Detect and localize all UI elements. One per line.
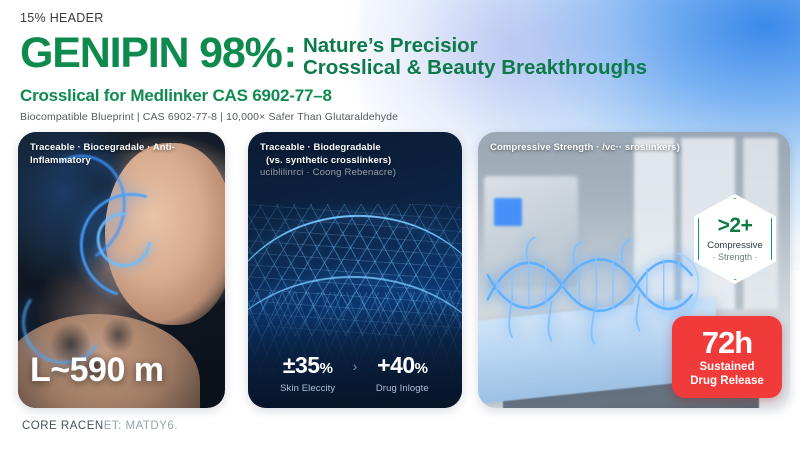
card-lab[interactable]: Compressive Strength · /vc·· sroslinkers…	[478, 132, 790, 408]
stat-separator-icon: ›	[353, 352, 358, 374]
header-eyebrow: 15% HEADER	[20, 10, 786, 26]
poster-canvas: 15% HEADER GENIPIN 98% : Nature’s Precis…	[0, 0, 800, 450]
poster-header: 15% HEADER GENIPIN 98% : Nature’s Precis…	[20, 10, 786, 123]
card-mesh[interactable]: Traceable · Biodegradable (vs. synthetic…	[248, 132, 462, 408]
footer-text-faint: ET: MATDY6.	[104, 420, 178, 432]
card-portrait-caption-line1: Traceable · Biocegradale · Anti-Inflamma…	[30, 142, 213, 167]
title-subheading-line2: Crosslical & Beauty Breakthroughs	[303, 57, 647, 79]
hex-border-icon	[698, 198, 772, 280]
title-colon: :	[282, 30, 303, 79]
title-subheading-line1: Nature’s Precisior	[303, 35, 647, 57]
card-portrait[interactable]: Traceable · Biocegradale · Anti-Inflamma…	[18, 132, 225, 408]
card-mesh-caption-line3: uciblilinrci · Coong Rebenacre)	[260, 167, 450, 180]
card-portrait-caption: Traceable · Biocegradale · Anti-Inflamma…	[18, 132, 225, 181]
stat-skin-elasticity-label: Skin Eleccity	[269, 383, 347, 394]
poster-footer: CORE RACENET: MATDY6.	[22, 420, 178, 432]
page-meta-line: Biocompatible Blueprint | CAS 6902-77-8 …	[20, 111, 786, 123]
hex-badge-label-line2: · Strength ·	[712, 252, 757, 263]
red-badge-value: 72h	[702, 327, 752, 359]
card-lab-caption: Compressive Strength · /vc·· sroslinkers…	[478, 132, 790, 169]
stat-drug-uptake: +40% Drug Inlogte	[363, 352, 441, 394]
hex-badge-label-line1: Compressive	[707, 240, 762, 252]
card-mesh-caption-line2: (vs. synthetic crosslinkers)	[260, 155, 450, 168]
stat-drug-uptake-label: Drug Inlogte	[363, 383, 441, 394]
card-mesh-caption: Traceable · Biodegradable (vs. synthetic…	[248, 132, 462, 194]
footer-text-strong: CORE RACEN	[22, 420, 104, 432]
red-badge-label-line2: Drug Release	[690, 374, 764, 388]
title-row: GENIPIN 98% : Nature’s Precisior Crossli…	[20, 30, 786, 79]
stat-skin-elasticity-value: ±35%	[269, 352, 347, 382]
red-badge-label-line1: Sustained	[700, 360, 755, 374]
card-mesh-caption-line1: Traceable · Biodegradable	[260, 142, 450, 155]
title-subheading-group: Nature’s Precisior Crosslical & Beauty B…	[303, 30, 647, 79]
sustained-release-badge[interactable]: 72h Sustained Drug Release	[672, 316, 782, 398]
card-lab-caption-line1: Compressive Strength · /vc·· sroslinkers…	[490, 142, 778, 155]
stat-skin-elasticity: ±35% Skin Eleccity	[269, 352, 347, 394]
card-portrait-stat: L~590 m	[30, 351, 164, 390]
hex-badge-value: >2+	[718, 215, 753, 237]
page-subtitle: Crosslical for Medlinker CAS 6902-77–8	[20, 86, 786, 106]
stat-drug-uptake-value: +40%	[363, 352, 441, 382]
page-title: GENIPIN 98%	[20, 30, 282, 77]
card-row: Traceable · Biocegradale · Anti-Inflamma…	[0, 132, 800, 414]
card-mesh-stats: ±35% Skin Eleccity › +40% Drug Inlogte	[248, 352, 462, 394]
